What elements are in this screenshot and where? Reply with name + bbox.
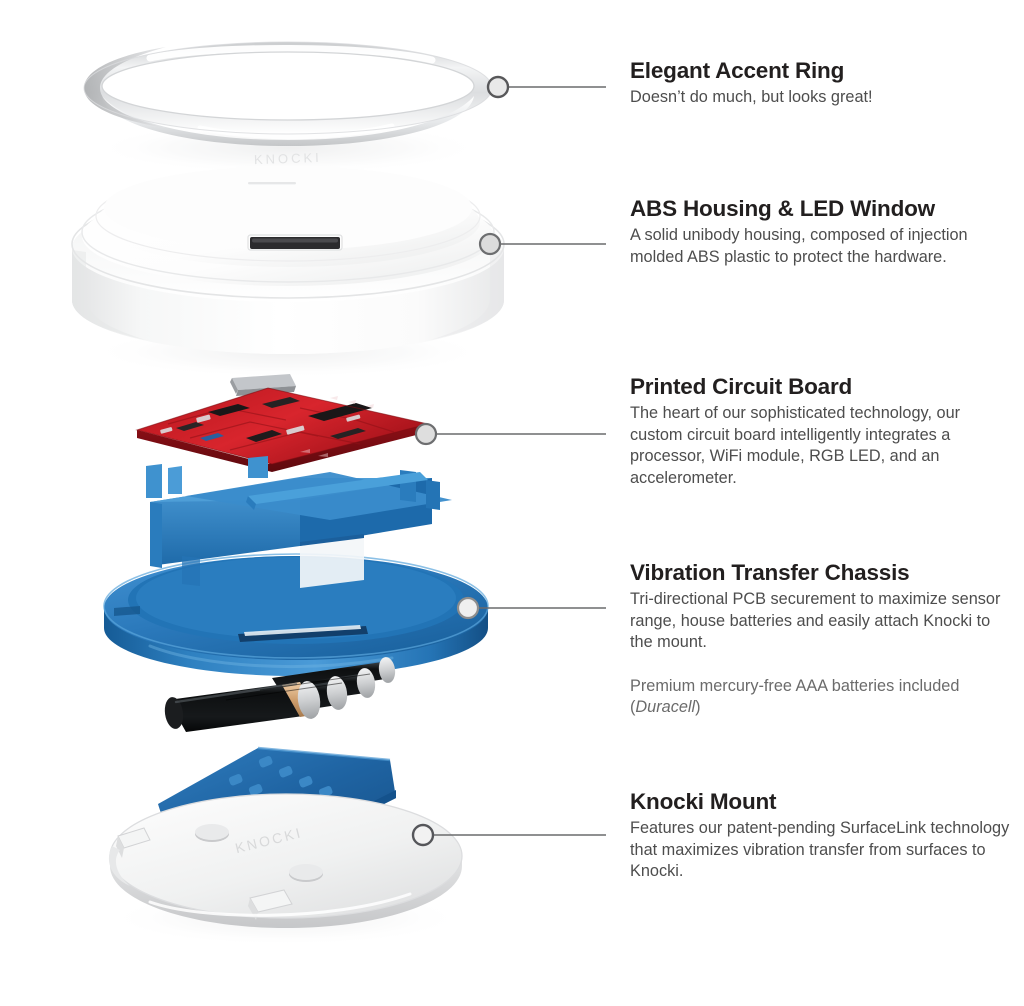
part-knocki-mount: KNOCKI <box>106 794 466 946</box>
callout-block-knocki-mount: Knocki Mount Features our patent-pending… <box>630 789 1010 883</box>
exploded-product-illustration: KNOCKI <box>0 0 620 1006</box>
callout-title-abs-housing: ABS Housing & LED Window <box>630 196 1010 222</box>
callout-body-vibration-transfer-chassis: Tri-directional PCB securement to maximi… <box>630 589 1010 654</box>
callout-block-abs-housing: ABS Housing & LED Window A solid unibody… <box>630 196 1010 268</box>
battery-note-suffix: ) <box>695 698 700 716</box>
callout-title-printed-circuit-board: Printed Circuit Board <box>630 374 1010 400</box>
callout-labels: Elegant Accent Ring Doesn’t do much, but… <box>630 0 1024 1006</box>
battery-brand: Duracell <box>635 698 695 716</box>
part-abs-housing: KNOCKI <box>72 150 504 378</box>
callout-block-accent-ring: Elegant Accent Ring Doesn’t do much, but… <box>630 58 1010 109</box>
diagram-stage: KNOCKI <box>0 0 1024 1006</box>
callout-body-accent-ring: Doesn’t do much, but looks great! <box>630 87 1010 109</box>
callout-note-batteries: Premium mercury-free AAA batteries inclu… <box>630 676 1010 719</box>
callout-block-printed-circuit-board: Printed Circuit Board The heart of our s… <box>630 374 1010 489</box>
callout-title-knocki-mount: Knocki Mount <box>630 789 1010 815</box>
callout-body-abs-housing: A solid unibody housing, composed of inj… <box>630 225 1010 268</box>
callout-title-accent-ring: Elegant Accent Ring <box>630 58 1010 84</box>
housing-emboss-text: KNOCKI <box>254 150 322 167</box>
callout-body-printed-circuit-board: The heart of our sophisticated technolog… <box>630 403 1010 489</box>
part-vibration-transfer-chassis <box>104 456 488 676</box>
callout-block-vibration-transfer-chassis: Vibration Transfer Chassis Tri-direction… <box>630 560 1010 719</box>
callout-body-knocki-mount: Features our patent-pending SurfaceLink … <box>630 818 1010 883</box>
led-window <box>248 235 342 250</box>
callout-title-vibration-transfer-chassis: Vibration Transfer Chassis <box>630 560 1010 586</box>
part-printed-circuit-board <box>137 374 428 472</box>
battery-item <box>163 680 323 732</box>
